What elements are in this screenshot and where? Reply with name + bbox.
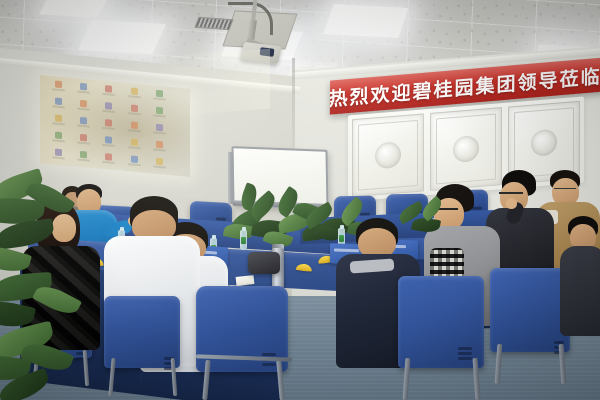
desktop-icon-glyph bbox=[80, 117, 87, 125]
desktop-icon-glyph bbox=[131, 104, 138, 112]
desktop-icon bbox=[122, 104, 146, 122]
desktop-icon-glyph bbox=[156, 124, 163, 132]
desktop-icon-label bbox=[128, 129, 141, 132]
desktop-icon-glyph bbox=[131, 155, 138, 163]
attendee-far-right bbox=[560, 216, 600, 336]
potted-plant-foreground-left bbox=[0, 170, 102, 400]
desktop-icon-label bbox=[102, 93, 115, 96]
desktop-icon-glyph bbox=[80, 83, 87, 91]
desktop-icon-label bbox=[128, 163, 141, 166]
desktop-icon-glyph bbox=[131, 138, 138, 146]
desktop-icon-label bbox=[128, 146, 141, 149]
desktop-icon-glyph bbox=[105, 136, 112, 144]
desktop-icon-label bbox=[102, 110, 115, 113]
desktop-icon-grid bbox=[46, 80, 172, 171]
desktop-icon-glyph bbox=[105, 153, 112, 161]
panel-light-3 bbox=[324, 4, 409, 38]
desktop-icon bbox=[46, 148, 70, 166]
desktop-icon bbox=[148, 89, 172, 107]
desktop-icon-glyph bbox=[80, 151, 87, 159]
desktop-icon-label bbox=[52, 122, 65, 125]
desktop-icon-label bbox=[52, 139, 65, 142]
desktop-icon-label bbox=[52, 156, 65, 159]
projector-lens-icon bbox=[260, 47, 275, 57]
desktop-icon-glyph bbox=[55, 115, 62, 123]
paper-document bbox=[236, 275, 255, 286]
desktop-icon-glyph bbox=[55, 81, 62, 89]
desktop-icon bbox=[97, 84, 121, 102]
desktop-icon bbox=[122, 121, 146, 139]
hand bbox=[506, 198, 517, 209]
desktop-icon-label bbox=[52, 88, 65, 91]
desktop-icon-glyph bbox=[156, 141, 163, 149]
desktop-icon-label bbox=[153, 131, 166, 134]
desktop-icon bbox=[148, 140, 172, 158]
desktop-icon-label bbox=[153, 97, 166, 100]
desktop-icon bbox=[97, 118, 121, 136]
desktop-icon-glyph bbox=[55, 149, 62, 157]
desktop-icon-label bbox=[153, 148, 166, 151]
chair-blue-9 bbox=[490, 268, 570, 352]
desktop-icon-glyph bbox=[55, 98, 62, 106]
desktop-icon-label bbox=[102, 144, 115, 147]
desktop-icon-label bbox=[52, 105, 65, 108]
desktop-icon-glyph bbox=[105, 102, 112, 110]
chair-blue-8 bbox=[398, 276, 484, 368]
desktop-icon bbox=[46, 80, 70, 98]
desktop-icon-label bbox=[153, 114, 166, 117]
desktop-icon-label bbox=[102, 161, 115, 164]
desktop-icon bbox=[71, 150, 95, 168]
desktop-icon bbox=[97, 152, 121, 170]
chair-slot-icon bbox=[262, 353, 276, 356]
desktop-icon-glyph bbox=[105, 119, 112, 127]
desktop-icon bbox=[97, 135, 121, 153]
desktop-icon-label bbox=[77, 142, 90, 145]
desktop-icon-label bbox=[128, 95, 141, 98]
desktop-icon-label bbox=[77, 159, 90, 162]
desktop-icon-label bbox=[77, 125, 90, 128]
chair-slot-icon bbox=[458, 347, 472, 350]
desktop-icon bbox=[46, 97, 70, 115]
wall-panel-inner-3 bbox=[514, 107, 574, 178]
desktop-icon bbox=[46, 114, 70, 132]
desktop-icon bbox=[71, 133, 95, 151]
desktop-icon-label bbox=[77, 91, 90, 94]
desktop-icon bbox=[71, 99, 95, 117]
desktop-icon-glyph bbox=[80, 134, 87, 142]
water-bottle bbox=[240, 230, 247, 250]
desktop-icon bbox=[71, 82, 95, 100]
desktop-icon bbox=[122, 138, 146, 156]
wall-panel-1 bbox=[352, 113, 424, 197]
black-bag bbox=[248, 252, 280, 274]
desktop-icon bbox=[122, 87, 146, 105]
potted-plant-mid-right bbox=[398, 196, 444, 244]
desktop-icon bbox=[46, 131, 70, 149]
panel-light-4 bbox=[39, 0, 109, 18]
desktop-icon-glyph bbox=[156, 107, 163, 115]
desktop-icon-label bbox=[128, 112, 141, 115]
desktop-icon bbox=[97, 101, 121, 119]
desktop-icon bbox=[148, 123, 172, 141]
desktop-icon-label bbox=[77, 108, 90, 111]
projector-screen bbox=[40, 75, 190, 177]
desktop-icon bbox=[148, 157, 172, 175]
desktop-icon-label bbox=[153, 165, 166, 168]
desktop-icon-glyph bbox=[105, 85, 112, 93]
chair-blue-7 bbox=[104, 296, 180, 368]
desktop-icon-glyph bbox=[131, 121, 138, 129]
desktop-icon bbox=[71, 116, 95, 134]
panel-light-1 bbox=[78, 20, 166, 54]
desktop-icon-glyph bbox=[156, 90, 163, 98]
desktop-icon-glyph bbox=[131, 87, 138, 95]
desktop-icon bbox=[148, 106, 172, 124]
torso bbox=[560, 246, 600, 336]
glasses-icon bbox=[554, 188, 576, 194]
desktop-icon-glyph bbox=[55, 132, 62, 140]
desktop-icon-label bbox=[102, 127, 115, 130]
desktop-icon-glyph bbox=[80, 100, 87, 108]
wall-panel-inner-1 bbox=[358, 120, 418, 191]
desktop-icon-glyph bbox=[156, 158, 163, 166]
desktop-icon bbox=[122, 155, 146, 173]
conference-room-photo: 热烈欢迎碧桂园集团领导莅临指导 bbox=[0, 0, 600, 400]
